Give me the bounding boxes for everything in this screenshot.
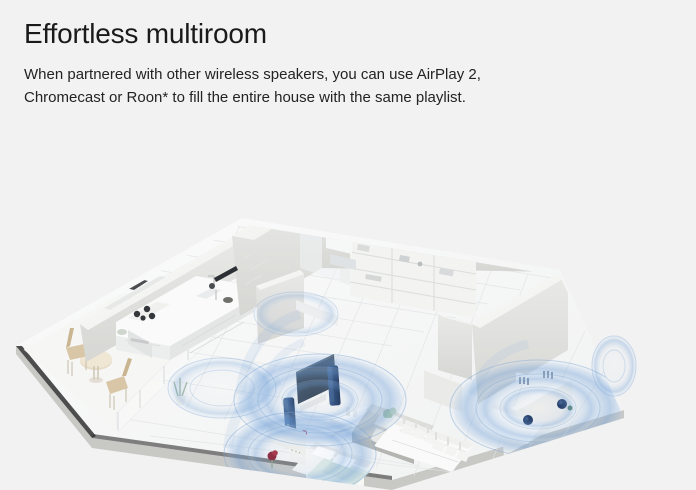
page-title: Effortless multiroom: [24, 16, 664, 51]
floorplan-illustration: [0, 118, 696, 490]
balcony-plant-1: [46, 284, 62, 314]
subcopy-line-1: When partnered with other wireless speak…: [24, 66, 481, 83]
page-subcopy: When partnered with other wireless speak…: [24, 63, 604, 110]
multiroom-section: Effortless multiroom When partnered with…: [0, 0, 696, 490]
text-block: Effortless multiroom When partnered with…: [24, 16, 664, 110]
subcopy-line-2: Chromecast or Roon* to fill the entire h…: [24, 89, 466, 106]
sound-wave-overflow-right: [592, 336, 636, 396]
sound-wave-bathroom-top: [254, 292, 338, 336]
